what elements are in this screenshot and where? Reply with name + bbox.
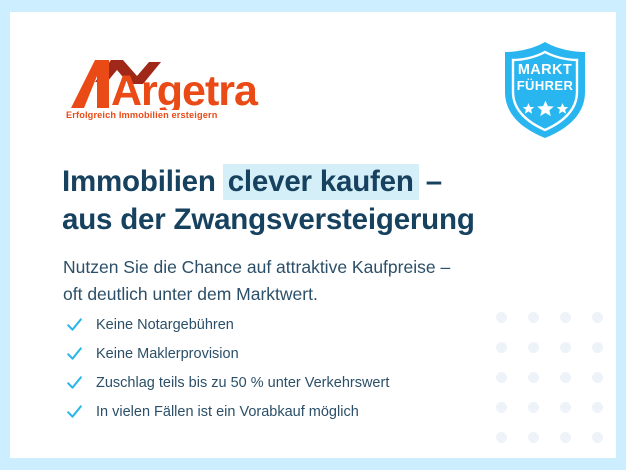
check-icon — [65, 344, 84, 363]
list-item-label: Zuschlag teils bis zu 50 % unter Verkehr… — [96, 373, 389, 393]
dot — [528, 402, 539, 413]
dot — [528, 432, 539, 443]
list-item-label: In vielen Fällen ist ein Vorabkauf mögli… — [96, 402, 359, 422]
dot-row — [486, 372, 616, 383]
dot — [496, 432, 507, 443]
brand-tagline: Erfolgreich Immobilien ersteigern — [66, 110, 217, 120]
headline-text-after: – — [418, 165, 442, 198]
list-item-label: Keine Maklerprovision — [96, 344, 239, 364]
dot — [528, 342, 539, 353]
headline-text-before: Immobilien — [62, 165, 224, 198]
headline-highlight: clever kaufen — [223, 164, 419, 200]
banner-card: Argetra Erfolgreich Immobilien ersteiger… — [10, 12, 616, 458]
dot-grid-pattern — [486, 312, 616, 458]
dot — [592, 312, 603, 323]
list-item: Keine Notargebühren — [65, 310, 505, 339]
check-icon — [65, 373, 84, 392]
dot — [592, 372, 603, 383]
dot — [560, 402, 571, 413]
page-title: Immobilien clever kaufen – aus der Zwang… — [62, 163, 532, 239]
check-icon — [65, 315, 84, 334]
dot — [560, 342, 571, 353]
list-item-label: Keine Notargebühren — [96, 315, 234, 335]
brand-logo[interactable]: Argetra Erfolgreich Immobilien ersteiger… — [65, 54, 265, 126]
dot-row — [486, 402, 616, 413]
dot — [560, 432, 571, 443]
dot-row — [486, 432, 616, 443]
check-icon — [65, 402, 84, 421]
subtitle-line-1: Nutzen Sie die Chance auf attraktive Kau… — [63, 254, 533, 281]
svg-text:Argetra: Argetra — [111, 67, 259, 110]
subtitle: Nutzen Sie die Chance auf attraktive Kau… — [63, 254, 533, 308]
benefit-list: Keine Notargebühren Keine Maklerprovisio… — [65, 310, 505, 426]
market-leader-badge: MARKT FÜHRER — [497, 40, 593, 140]
dot-row — [486, 312, 616, 323]
dot — [592, 432, 603, 443]
dot — [592, 342, 603, 353]
list-item: Zuschlag teils bis zu 50 % unter Verkehr… — [65, 368, 505, 397]
headline-line-2: aus der Zwangsversteigerung — [62, 201, 532, 239]
argetra-roof-a-logo: Argetra — [65, 54, 265, 110]
list-item: In vielen Fällen ist ein Vorabkauf mögli… — [65, 397, 505, 426]
dot — [560, 372, 571, 383]
dot-row — [486, 342, 616, 353]
dot — [560, 312, 571, 323]
list-item: Keine Maklerprovision — [65, 339, 505, 368]
dot — [528, 312, 539, 323]
headline-line-1: Immobilien clever kaufen – — [62, 163, 532, 201]
promo-banner: Argetra Erfolgreich Immobilien ersteiger… — [0, 0, 626, 470]
dot — [592, 402, 603, 413]
dot — [528, 372, 539, 383]
subtitle-line-2: oft deutlich unter dem Marktwert. — [63, 281, 533, 308]
shield-icon — [497, 40, 593, 140]
